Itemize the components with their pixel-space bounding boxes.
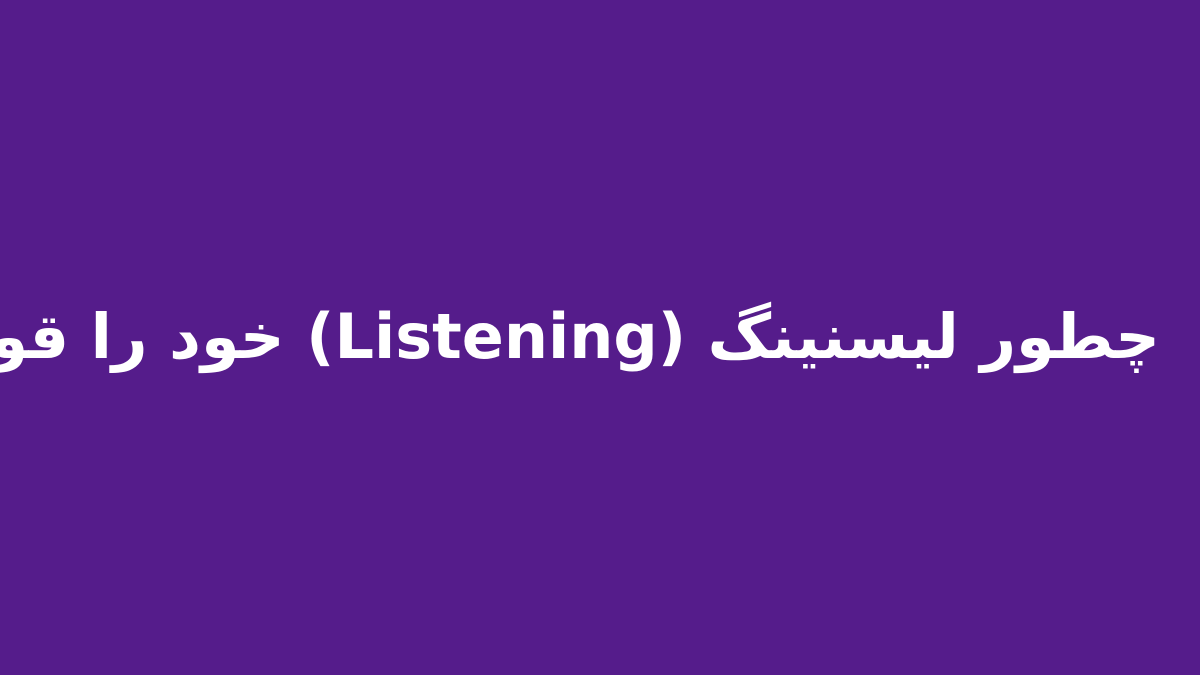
page-title: چطور لیسنینگ (Listening) خود را قوی کنیم…	[40, 300, 1160, 373]
banner-canvas: چطور لیسنینگ (Listening) خود را قوی کنیم…	[0, 0, 1200, 675]
